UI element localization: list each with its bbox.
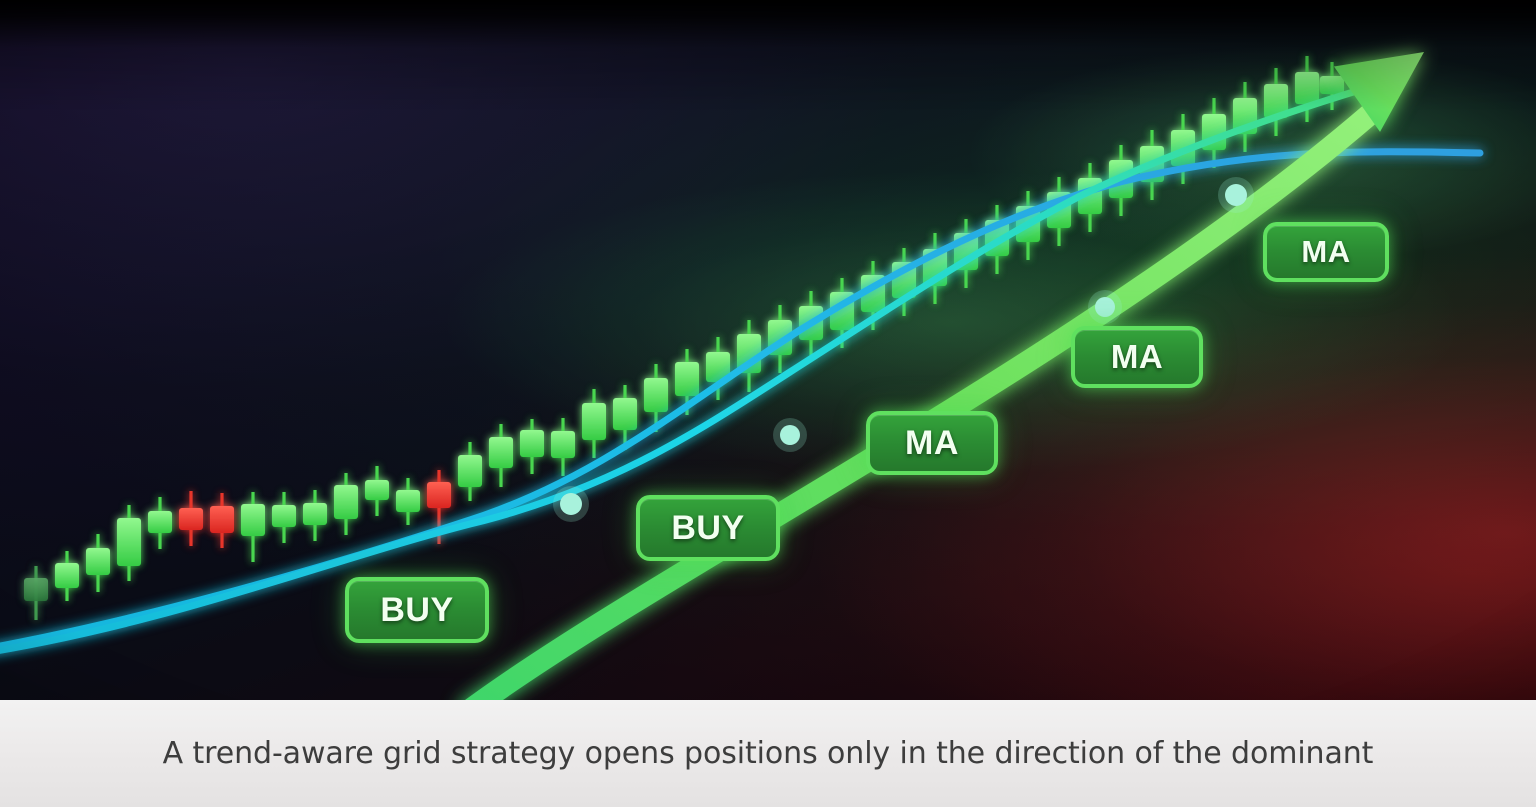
ma-label-2[interactable]: MA — [1071, 326, 1203, 388]
buy-label-2-text: BUY — [671, 509, 744, 548]
caption-text: A trend-aware grid strategy opens positi… — [163, 736, 1374, 771]
caption-bar: A trend-aware grid strategy opens positi… — [0, 700, 1536, 807]
ma-label-1-text: MA — [905, 424, 959, 463]
ma-label-3-text: MA — [1301, 234, 1350, 270]
buy-label-1-text: BUY — [380, 591, 453, 630]
ma-label-1[interactable]: MA — [866, 411, 998, 475]
buy-label-1[interactable]: BUY — [345, 577, 489, 643]
chart-top-fade — [0, 0, 1536, 700]
buy-label-2[interactable]: BUY — [636, 495, 780, 561]
ma-label-2-text: MA — [1111, 338, 1163, 376]
screenshot-root: BUYBUYMAMAMA A trend-aware grid strategy… — [0, 0, 1536, 807]
trading-chart: BUYBUYMAMAMA — [0, 0, 1536, 700]
ma-label-3[interactable]: MA — [1263, 222, 1389, 282]
